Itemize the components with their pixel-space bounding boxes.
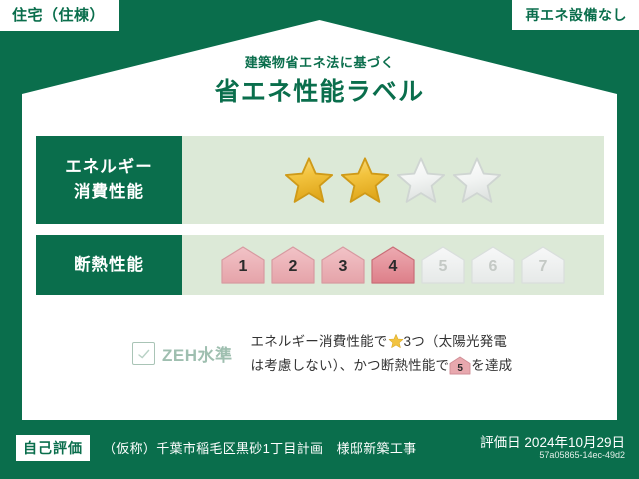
- inline-star-icon: [388, 333, 404, 349]
- insulation-badge-number: 5: [420, 258, 466, 276]
- zeh-label: ZEH水準: [162, 341, 233, 366]
- insulation-badge-6: 6: [470, 245, 516, 285]
- zeh-desc-line1-b: 3つ（太陽光発電: [404, 334, 508, 349]
- insulation-badge-number: 7: [520, 258, 566, 276]
- energy-performance-row: エネルギー消費性能: [36, 136, 604, 224]
- energy-performance-label-text: エネルギー消費性能: [65, 155, 153, 205]
- star-empty-icon: [452, 155, 502, 205]
- star-empty-icon: [396, 155, 446, 205]
- energy-performance-label: エネルギー消費性能: [36, 136, 182, 224]
- zeh-note-area: ZEH水準 エネルギー消費性能で3つ（太陽光発電は考慮しない）、かつ断熱性能で5…: [36, 330, 604, 377]
- star-rating: [284, 155, 502, 205]
- renewable-energy-tag: 再エネ設備なし: [512, 0, 639, 30]
- footer: 自己評価 （仮称）千葉市稲毛区黒砂1丁目計画 様邸新築工事 評価日 2024年1…: [0, 421, 639, 479]
- energy-performance-value: [182, 136, 604, 224]
- zeh-desc-line1-a: エネルギー消費性能で: [251, 334, 388, 349]
- zeh-desc-line2-a: は考慮しない）、かつ断熱性能で: [251, 358, 450, 373]
- insulation-badge-number: 3: [320, 258, 366, 276]
- insulation-level-badges: 1234567: [220, 245, 566, 285]
- inline-insulation-badge-number: 5: [449, 360, 471, 378]
- insulation-badge-2: 2: [270, 245, 316, 285]
- performance-rows: エネルギー消費性能 断熱性能 1234567: [36, 136, 604, 306]
- insulation-badge-1: 1: [220, 245, 266, 285]
- zeh-description: エネルギー消費性能で3つ（太陽光発電は考慮しない）、かつ断熱性能で5を達成: [251, 330, 513, 377]
- project-name: （仮称）千葉市稲毛区黒砂1丁目計画 様邸新築工事: [103, 438, 416, 457]
- insulation-performance-label: 断熱性能: [36, 235, 182, 295]
- page-title: 省エネ性能ラベル: [0, 77, 639, 108]
- insulation-badge-number: 2: [270, 258, 316, 276]
- self-evaluation-badge: 自己評価: [16, 435, 90, 461]
- insulation-performance-row: 断熱性能 1234567: [36, 235, 604, 295]
- inline-insulation-badge: 5: [449, 356, 471, 375]
- insulation-badge-7: 7: [520, 245, 566, 285]
- evaluation-date: 評価日 2024年10月29日: [480, 431, 625, 451]
- zeh-mark: ZEH水準: [132, 341, 233, 366]
- insulation-badge-3: 3: [320, 245, 366, 285]
- energy-performance-label: 住宅（住棟） 再エネ設備なし 建築物省エネ法に基づく 省エネ性能ラベル エネルギ…: [0, 0, 639, 479]
- title-block: 建築物省エネ法に基づく 省エネ性能ラベル: [0, 55, 639, 108]
- insulation-badge-5: 5: [420, 245, 466, 285]
- star-filled-icon: [340, 155, 390, 205]
- insulation-badge-number: 6: [470, 258, 516, 276]
- building-type-tag: 住宅（住棟）: [0, 0, 119, 31]
- title-subtitle: 建築物省エネ法に基づく: [0, 55, 639, 71]
- star-filled-icon: [284, 155, 334, 205]
- insulation-performance-value: 1234567: [182, 235, 604, 295]
- evaluation-id: 57a05865-14ec-49d2: [539, 450, 625, 460]
- insulation-badge-number: 1: [220, 258, 266, 276]
- zeh-checkbox-icon: [132, 342, 155, 365]
- insulation-badge-4: 4: [370, 245, 416, 285]
- zeh-desc-line2-b: を達成: [471, 358, 512, 373]
- insulation-badge-number: 4: [370, 258, 416, 276]
